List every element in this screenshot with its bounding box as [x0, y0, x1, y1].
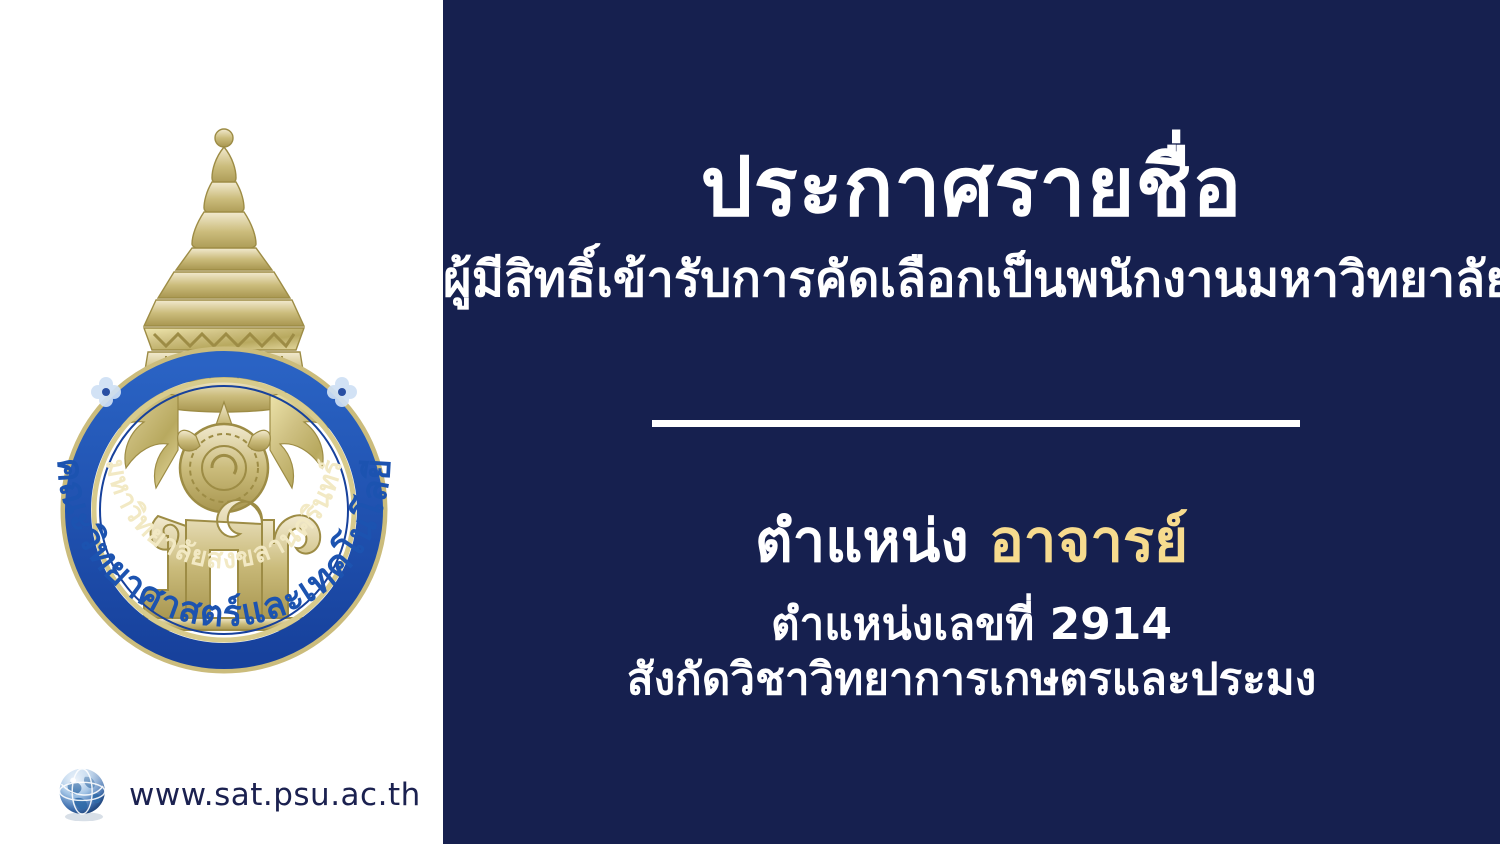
- announcement-headline: ประกาศรายชื่อ: [443, 143, 1500, 233]
- globe-icon: [55, 766, 113, 824]
- position-line: ตำแหน่ง อาจารย์: [443, 508, 1500, 575]
- website-url[interactable]: www.sat.psu.ac.th: [129, 777, 421, 813]
- department-name: สังกัดวิชาวิทยาการเกษตรและประมง: [443, 655, 1500, 706]
- announcement-subheadline: ผู้มีสิทธิ์เข้ารับการคัดเลือกเป็นพนักงาน…: [443, 252, 1500, 308]
- divider-rule: [652, 420, 1300, 427]
- university-emblem: มหาวิทยาลัยสงขลานครินทร์ คณะวิทยาศาสตร์แ…: [26, 120, 422, 686]
- position-label: ตำแหน่ง: [755, 507, 969, 575]
- position-number: ตำแหน่งเลขที่ 2914: [443, 600, 1500, 651]
- left-logo-panel: มหาวิทยาลัยสงขลานครินทร์ คณะวิทยาศาสตร์แ…: [0, 0, 443, 844]
- website-footer[interactable]: www.sat.psu.ac.th: [55, 766, 421, 824]
- announcement-slide: มหาวิทยาลัยสงขลานครินทร์ คณะวิทยาศาสตร์แ…: [0, 0, 1500, 844]
- position-value: อาจารย์: [989, 507, 1188, 575]
